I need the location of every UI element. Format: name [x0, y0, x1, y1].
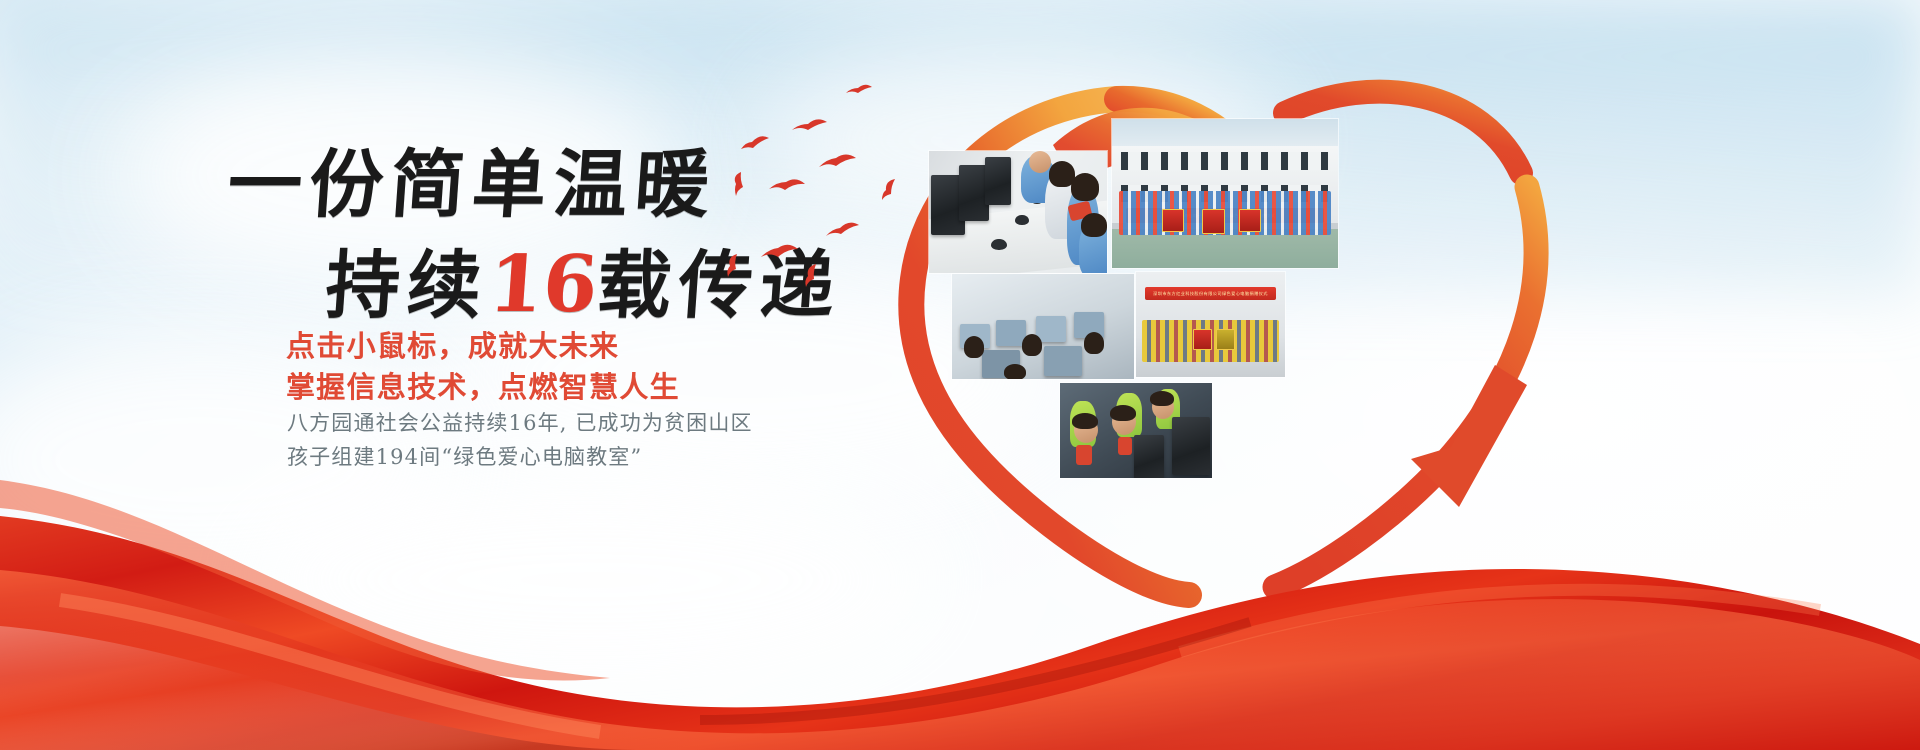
photo-computer-lab-students-row: [929, 151, 1107, 273]
photo-children-using-computers: [1060, 383, 1212, 478]
body-copy-line-2: 孩子组建194间“绿色爱心电脑教室”: [287, 440, 753, 474]
cloud-shape: [240, 470, 940, 690]
photo-indoor-donation-group: 深圳市东方红业科技股份有限公司绿色爱心电脑捐赠仪式: [1136, 272, 1285, 377]
photo-school-building-donation-ceremony: 广州海仙电子商务有限公司绿色爱心电脑捐赠仪式: [1112, 119, 1338, 268]
photo-computer-classroom-wide: [952, 274, 1134, 379]
body-copy-block: 八方园通社会公益持续16年, 已成功为贫困山区 孩子组建194间“绿色爱心电脑教…: [287, 406, 753, 474]
indoor-banner-text: 深圳市东方红业科技股份有限公司绿色爱心电脑捐赠仪式: [1145, 287, 1276, 301]
body-copy-line-1: 八方园通社会公益持续16年, 已成功为贫困山区: [287, 406, 753, 440]
subheadline-line-2: 掌握信息技术，点燃智慧人生: [286, 367, 680, 408]
headline-year-count: 16: [486, 239, 601, 330]
subheadline-line-1: 点击小鼠标，成就大未来: [286, 326, 680, 367]
charity-banner: 一份简单温暖 持续16载传递 点击小鼠标，成就大未来 掌握信息技术，点燃智慧人生…: [0, 0, 1920, 750]
subheadline-block: 点击小鼠标，成就大未来 掌握信息技术，点燃智慧人生: [286, 326, 680, 408]
headline-line-2-prefix: 持续: [323, 243, 492, 329]
